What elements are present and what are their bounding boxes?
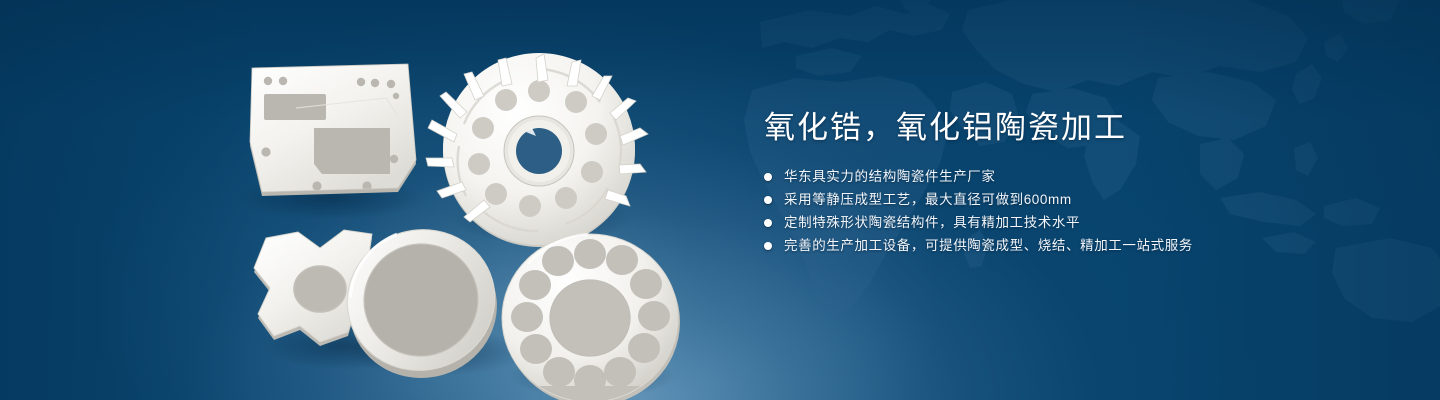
list-item: 采用等静压成型工艺，最大直径可做到600mm [764,191,1384,209]
feature-text: 采用等静压成型工艺，最大直径可做到600mm [784,191,1072,209]
bullet-dot-icon [764,173,772,181]
ceramic-plate-with-cutouts [250,64,416,196]
feature-text: 定制特殊形状陶瓷结构件，具有精加工技术水平 [784,214,1080,232]
list-item: 华东具实力的结构陶瓷件生产厂家 [764,168,1384,186]
feature-text: 华东具实力的结构陶瓷件生产厂家 [784,168,996,186]
ceramic-perforated-disc [502,234,680,400]
banner-headline: 氧化锆，氧化铝陶瓷加工 [764,108,1384,148]
bullet-dot-icon [764,242,772,250]
ceramic-products-photo [236,46,706,386]
list-item: 定制特殊形状陶瓷结构件，具有精加工技术水平 [764,214,1384,232]
banner-feature-list: 华东具实力的结构陶瓷件生产厂家 采用等静压成型工艺，最大直径可做到600mm 定… [764,168,1384,255]
feature-text: 完善的生产加工设备，可提供陶瓷成型、烧结、精加工一站式服务 [784,237,1193,255]
bullet-dot-icon [764,196,772,204]
bullet-dot-icon [764,219,772,227]
promo-banner: 氧化锆，氧化铝陶瓷加工 华东具实力的结构陶瓷件生产厂家 采用等静压成型工艺，最大… [0,0,1440,400]
banner-text-column: 氧化锆，氧化铝陶瓷加工 华东具实力的结构陶瓷件生产厂家 采用等静压成型工艺，最大… [764,108,1384,260]
list-item: 完善的生产加工设备，可提供陶瓷成型、烧结、精加工一站式服务 [764,237,1384,255]
